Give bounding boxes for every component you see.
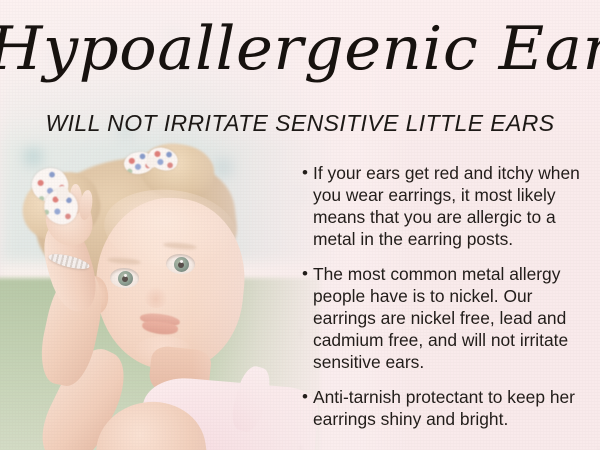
bullet-dot-icon: • xyxy=(302,162,313,250)
page-subtitle: WILL NOT IRRITATE SENSITIVE LITTLE EARS xyxy=(0,110,600,137)
bullet-dot-icon: • xyxy=(302,263,313,373)
list-item-text: If your ears get red and itchy when you … xyxy=(313,162,590,250)
list-item: • Anti-tarnish protectant to keep her ea… xyxy=(302,386,590,430)
list-item-text: Anti-tarnish protectant to keep her earr… xyxy=(313,386,590,430)
benefits-list: • If your ears get red and itchy when yo… xyxy=(302,162,590,443)
page-title: Hypoallergenic Earrings xyxy=(0,18,600,81)
hypoallergenic-earrings-banner: Hypoallergenic Earrings WILL NOT IRRITAT… xyxy=(0,0,600,450)
list-item-text: The most common metal allergy people hav… xyxy=(313,263,590,373)
list-item: • The most common metal allergy people h… xyxy=(302,263,590,373)
bullet-dot-icon: • xyxy=(302,386,313,430)
list-item: • If your ears get red and itchy when yo… xyxy=(302,162,590,250)
